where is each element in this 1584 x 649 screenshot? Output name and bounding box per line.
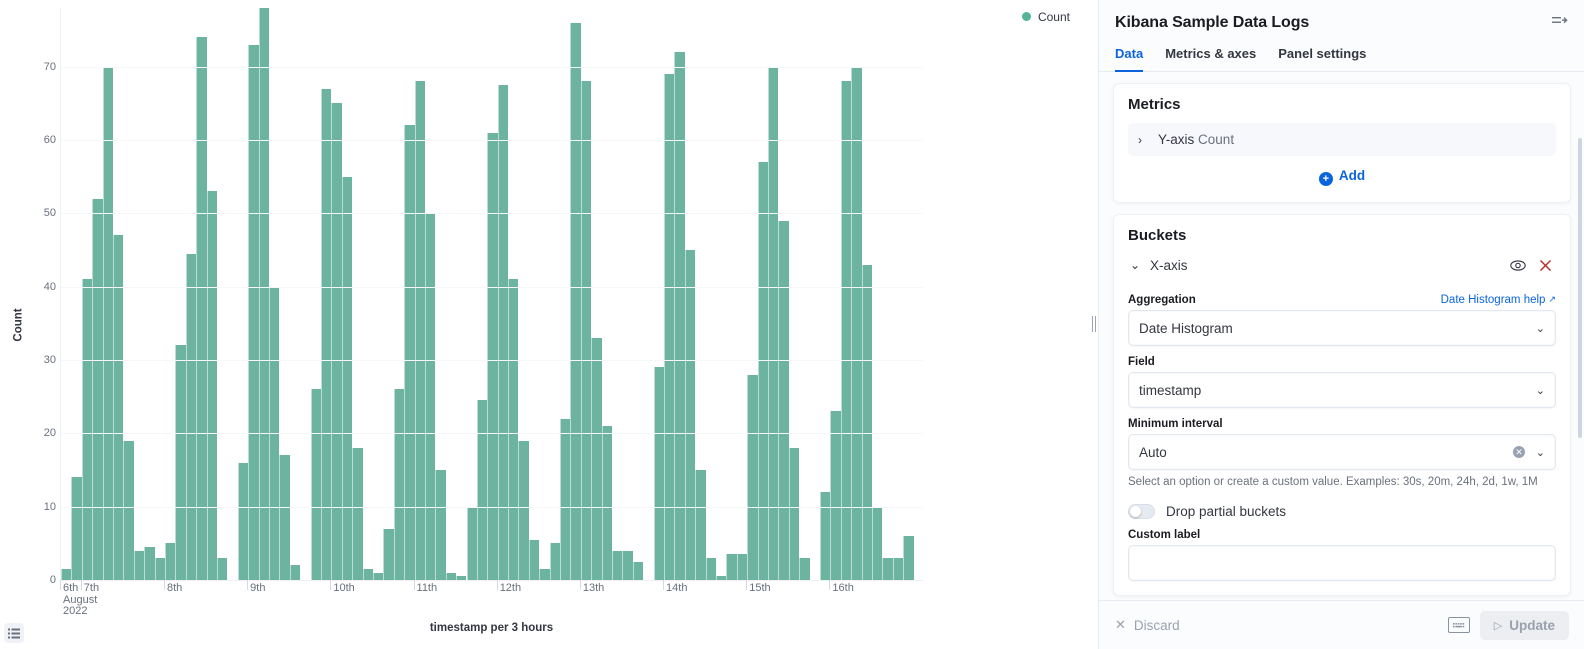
- chevron-right-icon: ›: [1138, 133, 1149, 147]
- y-axis-ticks: 010203040506070: [22, 0, 56, 649]
- x-axis-tick-label: 16th: [832, 583, 853, 595]
- y-axis-tick-label: 60: [22, 134, 56, 146]
- bar[interactable]: [415, 81, 425, 580]
- bar[interactable]: [903, 536, 913, 580]
- bar[interactable]: [290, 565, 300, 580]
- buckets-title: Buckets: [1128, 227, 1556, 244]
- bar[interactable]: [747, 375, 757, 580]
- bar[interactable]: [446, 573, 456, 580]
- bar[interactable]: [331, 103, 341, 580]
- bar[interactable]: [311, 389, 321, 580]
- metrics-title: Metrics: [1128, 96, 1556, 113]
- update-label: Update: [1509, 618, 1555, 633]
- gridline: [61, 433, 923, 434]
- bar[interactable]: [175, 345, 185, 580]
- x-axis-tick: [580, 580, 581, 590]
- bar[interactable]: [217, 558, 227, 580]
- gridline: [61, 213, 923, 214]
- x-axis-tick-label: 7th: [84, 583, 99, 595]
- x-axis-tick-label: 12th: [500, 583, 521, 595]
- panel-scrollbar[interactable]: [1578, 138, 1582, 438]
- bar[interactable]: [539, 569, 549, 580]
- close-x-icon: ✕: [1115, 617, 1126, 633]
- chevron-down-icon: ⌄: [1536, 322, 1545, 335]
- field-label: Field: [1128, 356, 1556, 368]
- x-axis-tick: [663, 580, 664, 590]
- add-metric-label: Add: [1339, 168, 1365, 183]
- bar[interactable]: [612, 551, 622, 580]
- metric-row-y-axis[interactable]: › Y-axis Count: [1128, 123, 1556, 156]
- minimum-interval-select[interactable]: Auto ✕ ⌄: [1128, 434, 1556, 470]
- bar[interactable]: [82, 279, 92, 580]
- plus-circle-icon: +: [1319, 172, 1333, 186]
- y-axis-tick-label: 40: [22, 281, 56, 293]
- bar[interactable]: [383, 529, 393, 580]
- gridline: [61, 140, 923, 141]
- list-icon: [8, 628, 20, 639]
- panel-title: Kibana Sample Data Logs: [1115, 14, 1569, 32]
- bar[interactable]: [71, 477, 81, 580]
- bar[interactable]: [207, 191, 217, 580]
- bar[interactable]: [186, 254, 196, 580]
- gridline: [61, 360, 923, 361]
- bar[interactable]: [737, 554, 747, 580]
- kibana-visualize-editor: Count Count 010203040506070 6th August 2…: [0, 0, 1584, 649]
- aggregation-select[interactable]: Date Histogram ⌄: [1128, 310, 1556, 346]
- bar[interactable]: [570, 23, 580, 580]
- tab-data[interactable]: Data: [1115, 42, 1143, 72]
- gridline: [61, 67, 923, 68]
- bar[interactable]: [581, 81, 591, 580]
- collapse-panel-icon[interactable]: [1549, 10, 1571, 32]
- y-axis-tick-label: 30: [22, 354, 56, 366]
- keyboard-icon: [1452, 622, 1466, 629]
- bar[interactable]: [425, 213, 435, 580]
- minimum-interval-value: Auto: [1139, 445, 1167, 460]
- bar[interactable]: [893, 558, 903, 580]
- bar[interactable]: [758, 162, 768, 580]
- bar[interactable]: [778, 221, 788, 580]
- panel-scroll-region: Metrics › Y-axis Count +Add Buckets ⌄: [1099, 72, 1584, 600]
- bar[interactable]: [726, 554, 736, 580]
- bar[interactable]: [352, 448, 362, 580]
- gridline: [61, 507, 923, 508]
- bar[interactable]: [363, 569, 373, 580]
- bar[interactable]: [706, 558, 716, 580]
- bar[interactable]: [435, 470, 445, 580]
- metrics-card: Metrics › Y-axis Count +Add: [1113, 83, 1571, 203]
- chevron-down-icon: ⌄: [1536, 384, 1545, 397]
- aggregation-value: Date Histogram: [1139, 321, 1233, 336]
- keyboard-shortcuts-button[interactable]: [1448, 617, 1470, 633]
- bar[interactable]: [664, 74, 674, 580]
- x-axis-tick: [829, 580, 830, 590]
- bar[interactable]: [851, 67, 861, 580]
- legend-item-count[interactable]: Count: [1022, 10, 1070, 24]
- y-axis-tick-label: 70: [22, 61, 56, 73]
- field-value: timestamp: [1139, 383, 1201, 398]
- bar[interactable]: [685, 250, 695, 580]
- play-icon: ▷: [1494, 619, 1502, 632]
- metric-row-prefix: Y-axis: [1158, 132, 1194, 147]
- x-axis-tick: [247, 580, 248, 590]
- bar[interactable]: [654, 367, 664, 580]
- legend-toggle-button[interactable]: [4, 623, 24, 643]
- bar[interactable]: [487, 133, 497, 580]
- x-axis-tick-label: 8th: [167, 583, 182, 595]
- x-axis-tick-label: 13th: [583, 583, 604, 595]
- bar[interactable]: [144, 547, 154, 580]
- x-axis-tick: [414, 580, 415, 590]
- aggregation-label-row: Aggregation Date Histogram help↗: [1128, 294, 1556, 306]
- panel-header: Kibana Sample Data Logs: [1099, 0, 1584, 32]
- bar[interactable]: [602, 426, 612, 580]
- minimum-interval-label: Minimum interval: [1128, 418, 1556, 430]
- plot-inner: [61, 8, 923, 580]
- bar[interactable]: [820, 492, 830, 580]
- bar[interactable]: [882, 558, 892, 580]
- bar[interactable]: [165, 543, 175, 580]
- x-axis-tick: [60, 580, 61, 590]
- bar[interactable]: [508, 279, 518, 580]
- minimum-interval-hint: Select an option or create a custom valu…: [1128, 475, 1556, 490]
- bar[interactable]: [248, 45, 258, 580]
- bar[interactable]: [467, 507, 477, 580]
- panel-tabs: Data Metrics & axes Panel settings: [1099, 32, 1584, 72]
- x-axis-tick: [330, 580, 331, 590]
- x-axis-tick-label: 14th: [666, 583, 687, 595]
- x-axis-tick-label: 10th: [333, 583, 354, 595]
- panel-resize-handle[interactable]: [1092, 313, 1096, 335]
- custom-label-input[interactable]: [1128, 545, 1556, 581]
- bar[interactable]: [799, 558, 809, 580]
- y-axis-tick-label: 0: [22, 574, 56, 586]
- bar[interactable]: [134, 551, 144, 580]
- legend-label: Count: [1038, 10, 1070, 24]
- metric-row-value: Count: [1198, 132, 1234, 147]
- aggregation-label: Aggregation: [1128, 294, 1196, 306]
- help-link-text: Date Histogram help: [1441, 294, 1546, 306]
- bar[interactable]: [103, 67, 113, 580]
- bar[interactable]: [560, 419, 570, 580]
- bar[interactable]: [373, 573, 383, 580]
- x-axis-line: [60, 580, 923, 581]
- gridline: [61, 287, 923, 288]
- x-axis-tick: [497, 580, 498, 590]
- bar[interactable]: [622, 551, 632, 580]
- editor-side-panel: Kibana Sample Data Logs Data Metrics & a…: [1098, 0, 1584, 649]
- bar[interactable]: [259, 8, 269, 580]
- y-axis-tick-label: 50: [22, 207, 56, 219]
- bar[interactable]: [841, 81, 851, 580]
- buckets-card: Buckets ⌄ X-axis: [1113, 214, 1571, 596]
- bar[interactable]: [155, 558, 165, 580]
- x-axis-tick-label: 11th: [417, 583, 438, 595]
- bar[interactable]: [196, 37, 206, 580]
- bar[interactable]: [518, 441, 528, 580]
- plot-area: [60, 8, 923, 580]
- y-axis-tick-label: 10: [22, 501, 56, 513]
- bar[interactable]: [529, 540, 539, 580]
- bar[interactable]: [342, 177, 352, 580]
- bar-series[interactable]: [61, 8, 923, 580]
- bar[interactable]: [404, 125, 414, 580]
- custom-label-label: Custom label: [1128, 529, 1556, 541]
- bucket-x-axis-label: X-axis: [1150, 258, 1188, 273]
- bar[interactable]: [633, 562, 643, 580]
- drop-partial-buckets-row: Drop partial buckets: [1128, 504, 1556, 519]
- chart-pane: Count Count 010203040506070 6th August 2…: [0, 0, 1098, 649]
- x-axis-title: timestamp per 3 hours: [60, 622, 923, 634]
- add-metric-button[interactable]: +Add: [1128, 156, 1556, 188]
- bar[interactable]: [123, 441, 133, 580]
- x-axis-tick-label: 15th: [749, 583, 770, 595]
- x-axis-tick: [81, 580, 82, 590]
- bar[interactable]: [789, 448, 799, 580]
- drop-partial-buckets-toggle[interactable]: [1128, 504, 1155, 519]
- bar[interactable]: [550, 543, 560, 580]
- x-axis-tick: [164, 580, 165, 590]
- bar[interactable]: [238, 463, 248, 580]
- bar[interactable]: [477, 400, 487, 580]
- bar[interactable]: [92, 199, 102, 580]
- bar[interactable]: [695, 470, 705, 580]
- remove-bucket-icon[interactable]: [1536, 256, 1554, 274]
- bar[interactable]: [830, 411, 840, 580]
- clear-circle-icon[interactable]: ✕: [1513, 446, 1525, 458]
- bar[interactable]: [862, 265, 872, 580]
- bucket-x-axis-header[interactable]: ⌄ X-axis: [1128, 254, 1556, 284]
- bar[interactable]: [279, 455, 289, 580]
- update-button[interactable]: ▷ Update: [1480, 611, 1569, 640]
- bar[interactable]: [591, 338, 601, 580]
- eye-icon[interactable]: [1509, 256, 1527, 274]
- external-link-icon: ↗: [1548, 294, 1556, 304]
- tab-metrics-axes[interactable]: Metrics & axes: [1165, 42, 1256, 72]
- chevron-down-icon: ⌄: [1536, 446, 1545, 459]
- legend-color-dot: [1022, 12, 1031, 21]
- date-histogram-help-link[interactable]: Date Histogram help↗: [1441, 294, 1556, 306]
- y-axis-tick-label: 20: [22, 427, 56, 439]
- x-axis-tick-label: 9th: [250, 583, 265, 595]
- tab-panel-settings[interactable]: Panel settings: [1278, 42, 1366, 72]
- discard-button[interactable]: ✕ Discard: [1115, 617, 1180, 633]
- bar[interactable]: [872, 507, 882, 580]
- panel-footer: ✕ Discard ▷ Update: [1099, 600, 1584, 649]
- bar[interactable]: [768, 67, 778, 580]
- bar[interactable]: [394, 389, 404, 580]
- drop-partial-buckets-label: Drop partial buckets: [1166, 504, 1286, 519]
- bar[interactable]: [674, 52, 684, 580]
- bar[interactable]: [61, 569, 71, 580]
- discard-label: Discard: [1134, 618, 1180, 633]
- chevron-down-icon: ⌄: [1130, 258, 1141, 272]
- field-select[interactable]: timestamp ⌄: [1128, 372, 1556, 408]
- x-axis-tick: [746, 580, 747, 590]
